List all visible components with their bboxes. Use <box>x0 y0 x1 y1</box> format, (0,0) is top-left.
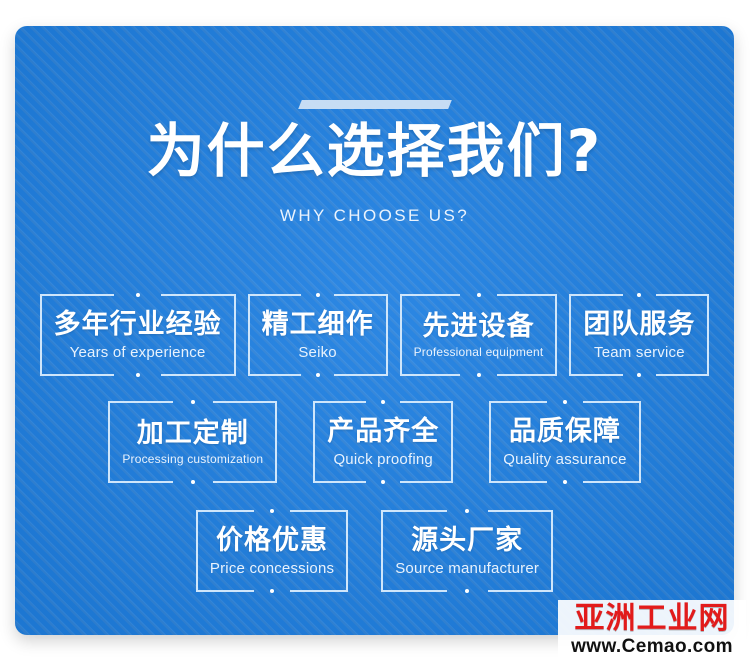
feature-row-1: 多年行业经验 Years of experience 精工细作 Seiko <box>15 294 734 376</box>
feature-title-cn: 产品齐全 <box>327 416 439 447</box>
feature-card[interactable]: 产品齐全 Quick proofing <box>313 401 453 483</box>
feature-card[interactable]: 先进设备 Professional equipment <box>400 294 558 376</box>
feature-card[interactable]: 团队服务 Team service <box>569 294 709 376</box>
feature-title-en: Quality assurance <box>503 451 626 469</box>
card-top-rail <box>400 294 558 296</box>
card-top-rail <box>489 401 640 403</box>
watermark-brand-cn: 亚洲工业网 <box>564 603 740 635</box>
feature-title-cn: 源头厂家 <box>411 525 523 556</box>
title-divider-bar <box>298 100 452 109</box>
feature-title-en: Seiko <box>298 344 337 362</box>
page-root: 为什么选择我们? WHY CHOOSE US? 多年行业经验 Years of … <box>0 0 750 668</box>
feature-title-cn: 多年行业经验 <box>54 309 222 340</box>
page-subtitle: WHY CHOOSE US? <box>15 206 734 226</box>
card-top-rail <box>569 294 709 296</box>
feature-title-cn: 精工细作 <box>262 309 374 340</box>
feature-title-en: Price concessions <box>210 560 334 578</box>
promo-banner-panel: 为什么选择我们? WHY CHOOSE US? 多年行业经验 Years of … <box>15 26 734 635</box>
feature-card[interactable]: 源头厂家 Source manufacturer <box>381 510 553 592</box>
feature-title-cn: 先进设备 <box>423 311 535 342</box>
feature-card[interactable]: 品质保障 Quality assurance <box>489 401 640 483</box>
site-watermark: 亚洲工业网 www.Cemao.com <box>558 600 746 666</box>
card-bottom-rail <box>569 374 709 376</box>
watermark-url: www.Cemao.com <box>564 636 740 658</box>
card-bottom-rail <box>489 481 640 483</box>
card-top-rail <box>248 294 388 296</box>
card-top-rail <box>108 401 277 403</box>
feature-title-en: Quick proofing <box>333 451 433 469</box>
feature-title-cn: 价格优惠 <box>216 525 328 556</box>
feature-card[interactable]: 加工定制 Processing customization <box>108 401 277 483</box>
feature-title-en: Professional equipment <box>414 345 544 359</box>
feature-row-2: 加工定制 Processing customization 产品齐全 Quick… <box>15 401 734 483</box>
card-top-rail <box>40 294 236 296</box>
feature-title-cn: 品质保障 <box>509 416 621 447</box>
card-bottom-rail <box>400 374 558 376</box>
feature-title-cn: 加工定制 <box>137 418 249 449</box>
feature-card[interactable]: 价格优惠 Price concessions <box>196 510 348 592</box>
card-bottom-rail <box>248 374 388 376</box>
page-title: 为什么选择我们? <box>15 121 734 182</box>
card-bottom-rail <box>196 590 348 592</box>
card-bottom-rail <box>40 374 236 376</box>
card-bottom-rail <box>108 481 277 483</box>
card-top-rail <box>196 510 348 512</box>
feature-title-cn: 团队服务 <box>583 309 695 340</box>
feature-title-en: Processing customization <box>122 452 263 466</box>
card-bottom-rail <box>381 590 553 592</box>
card-bottom-rail <box>313 481 453 483</box>
feature-title-en: Team service <box>594 344 685 362</box>
card-top-rail <box>381 510 553 512</box>
feature-card[interactable]: 多年行业经验 Years of experience <box>40 294 236 376</box>
banner-content: 为什么选择我们? WHY CHOOSE US? 多年行业经验 Years of … <box>15 26 734 635</box>
feature-title-en: Years of experience <box>70 344 206 362</box>
card-top-rail <box>313 401 453 403</box>
feature-row-3: 价格优惠 Price concessions 源头厂家 Source manuf… <box>15 510 734 592</box>
feature-title-en: Source manufacturer <box>395 560 539 578</box>
feature-card[interactable]: 精工细作 Seiko <box>248 294 388 376</box>
